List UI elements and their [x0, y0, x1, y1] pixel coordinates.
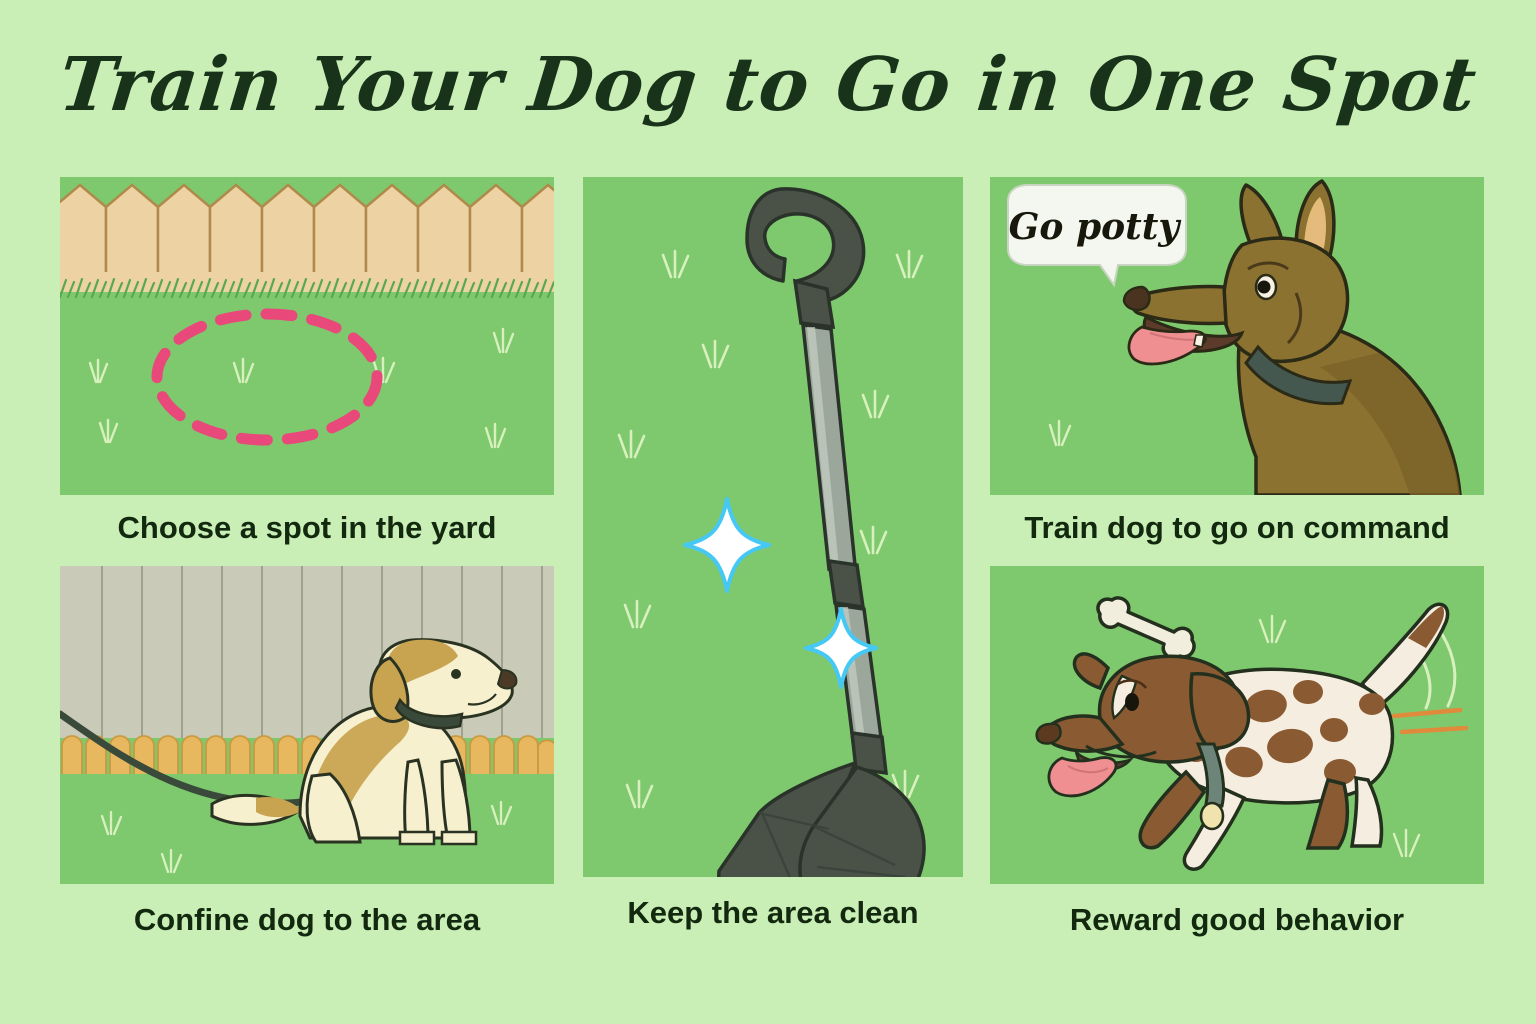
german-shepherd-illustration: Go potty: [990, 177, 1484, 495]
panel-keep-clean: [583, 177, 963, 877]
fenced-yard-illustration: [60, 177, 554, 495]
caption-choose-spot: Choose a spot in the yard: [60, 495, 554, 566]
panel-confine-dog: [60, 566, 554, 884]
middle-column: Keep the area clean: [583, 177, 963, 928]
caption-keep-clean: Keep the area clean: [583, 877, 963, 928]
panel-train-command: Go potty: [990, 177, 1484, 495]
page-title: Train Your Dog to Go in One Spot: [0, 42, 1536, 128]
beagle-on-leash-illustration: [60, 566, 554, 884]
fence-pickets: [60, 185, 554, 292]
pooper-scooper-illustration: [583, 177, 963, 877]
infographic-page: Train Your Dog to Go in One Spot: [0, 0, 1536, 1024]
panel-reward-behavior: [990, 566, 1484, 884]
spotted-dog-running-illustration: [990, 566, 1484, 884]
speech-bubble-text: Go potty: [1009, 206, 1182, 248]
right-column: Go potty Train dog to go on command: [990, 177, 1484, 935]
left-column: Choose a spot in the yard: [60, 177, 554, 935]
caption-reward-behavior: Reward good behavior: [990, 884, 1484, 935]
caption-confine-dog: Confine dog to the area: [60, 884, 554, 935]
caption-train-command: Train dog to go on command: [990, 495, 1484, 566]
panel-choose-spot: [60, 177, 554, 495]
